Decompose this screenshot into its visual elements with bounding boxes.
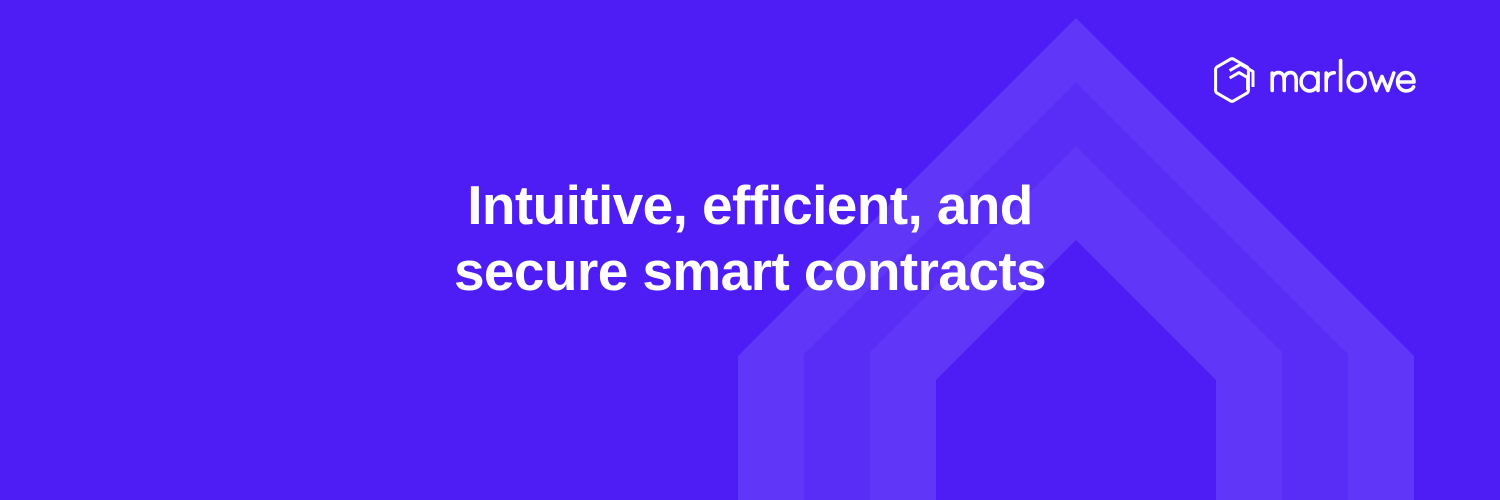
headline-line-1: Intuitive, efficient, and: [0, 172, 1500, 238]
headline-line-2: secure smart contracts: [0, 238, 1500, 304]
marlowe-wordmark-icon: [1270, 57, 1416, 103]
hero-headline: Intuitive, efficient, and secure smart c…: [0, 172, 1500, 304]
marlowe-hero-banner: Intuitive, efficient, and secure smart c…: [0, 0, 1500, 500]
marlowe-logo-lockup[interactable]: [1214, 55, 1416, 105]
marlowe-hexagon-mark-icon: [1214, 57, 1256, 103]
